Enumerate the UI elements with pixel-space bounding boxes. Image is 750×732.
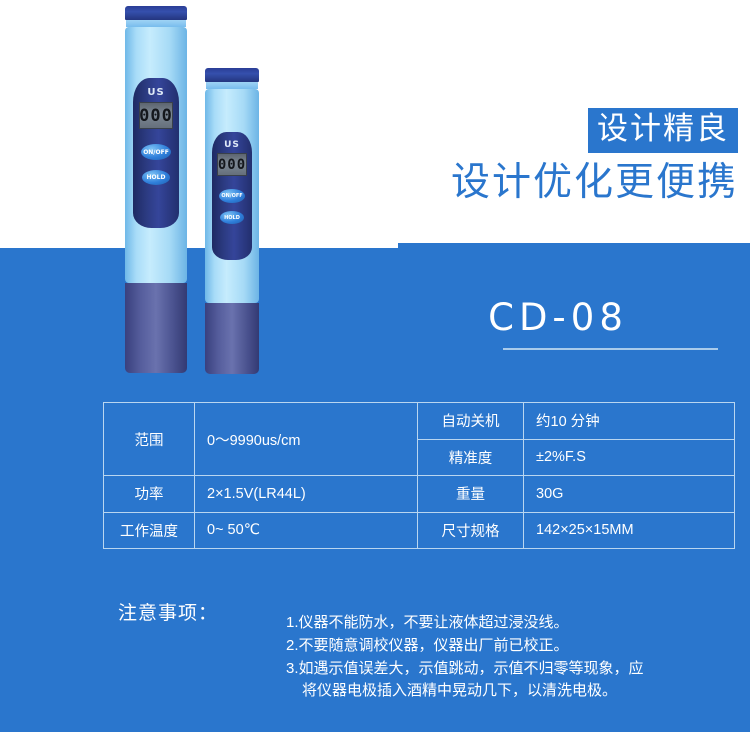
- spec-label-weight: 重量: [418, 476, 524, 513]
- meter-faceplate: US 000 ON/OFF HOLD: [133, 78, 179, 228]
- product-image-meter-small: US 000 ON/OFF HOLD: [205, 68, 259, 374]
- meter-cap: [205, 68, 259, 82]
- table-row: 功率 2×1.5V(LR44L) 重量 30G: [104, 476, 735, 513]
- meter-lcd-screen: 000: [217, 153, 247, 176]
- spec-value-temperature: 0~ 50℃: [195, 512, 418, 549]
- product-ad-page: US 000 ON/OFF HOLD US 000 ON/OFF HOLD 设计…: [0, 0, 750, 732]
- meter-lcd-screen: 000: [139, 102, 173, 129]
- meter-cap: [125, 6, 187, 20]
- headline-block: 设计精良 设计优化更便携: [398, 108, 738, 204]
- spec-label-accuracy: 精准度: [418, 439, 524, 476]
- meter-power-button: ON/OFF: [219, 189, 245, 203]
- spec-value-power: 2×1.5V(LR44L): [195, 476, 418, 513]
- table-row: 范围 0～9990us/cm 自动关机 约10 分钟: [104, 403, 735, 440]
- headline-divider: [398, 243, 750, 248]
- meter-probe-section: [125, 283, 187, 373]
- meter-faceplate: US 000 ON/OFF HOLD: [212, 132, 252, 260]
- spec-value-dimensions: 142×25×15MM: [524, 512, 735, 549]
- notes-list: 1.仪器不能防水，不要让液体超过浸没线。 2.不要随意调校仪器，仪器出厂前已校正…: [246, 612, 726, 703]
- meter-power-button: ON/OFF: [141, 144, 171, 160]
- meter-unit-label: US: [133, 87, 179, 98]
- list-item: 3.如遇示值误差大，示值跳动，示值不归零等现象，应: [286, 658, 726, 681]
- meter-unit-label: US: [212, 140, 252, 150]
- headline-badge: 设计精良: [588, 108, 738, 153]
- spec-value-range: 0～9990us/cm: [195, 403, 418, 476]
- meter-hold-button: HOLD: [220, 211, 244, 224]
- meter-probe-section: [205, 303, 259, 374]
- model-name-underline: [503, 348, 718, 350]
- table-row: 工作温度 0~ 50℃ 尺寸规格 142×25×15MM: [104, 512, 735, 549]
- spec-value-accuracy: ±2%F.S: [524, 439, 735, 476]
- meter-lcd-value: 000: [218, 157, 246, 173]
- meter-lcd-value: 000: [139, 106, 173, 126]
- spec-label-temperature: 工作温度: [104, 512, 195, 549]
- spec-label-power: 功率: [104, 476, 195, 513]
- spec-label-range: 范围: [104, 403, 195, 476]
- meter-hold-button: HOLD: [142, 170, 170, 185]
- model-name: CD-08: [398, 296, 718, 339]
- list-item: 1.仪器不能防水，不要让液体超过浸没线。: [286, 612, 726, 635]
- headline-text: 设计优化更便携: [398, 162, 738, 205]
- spec-value-auto-off: 约10 分钟: [524, 403, 735, 440]
- meter-cap-ring: [206, 82, 258, 89]
- spec-value-weight: 30G: [524, 476, 735, 513]
- meter-cap-ring: [126, 20, 186, 27]
- list-item: 将仪器电极插入酒精中晃动几下，以清洗电极。: [286, 680, 726, 703]
- specification-table: 范围 0～9990us/cm 自动关机 约10 分钟 精准度 ±2%F.S 功率…: [103, 402, 735, 549]
- spec-label-dimensions: 尺寸规格: [418, 512, 524, 549]
- product-image-meter-large: US 000 ON/OFF HOLD: [125, 6, 187, 373]
- notes-title: 注意事项：: [118, 598, 218, 625]
- spec-label-auto-off: 自动关机: [418, 403, 524, 440]
- list-item: 2.不要随意调校仪器，仪器出厂前已校正。: [286, 635, 726, 658]
